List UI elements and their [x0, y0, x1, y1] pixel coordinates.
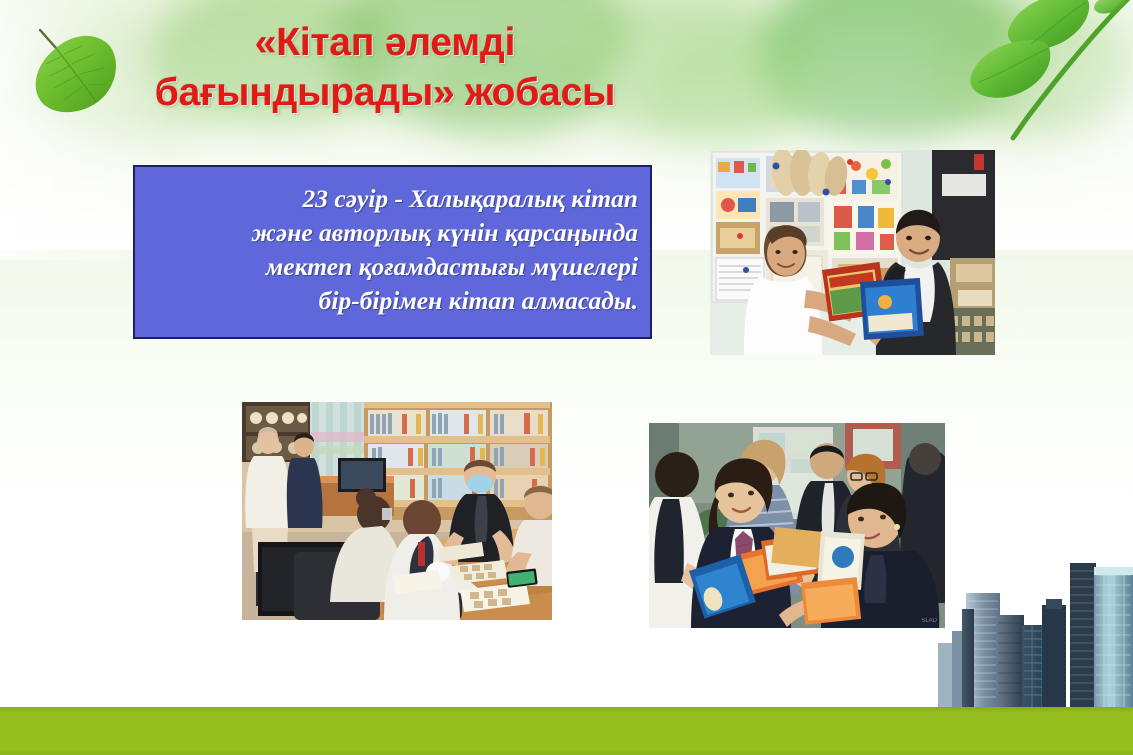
photo-watermark: SLAD: [921, 618, 937, 624]
city-skyline-icon: [938, 527, 1133, 707]
presentation-slide: «Кітап әлемді бағындырады» жобасы 23 сәу…: [0, 0, 1133, 755]
photo-library-reading-room: [242, 402, 552, 620]
quote-box: 23 сәуір - Халықаралық кітап және авторл…: [133, 165, 652, 339]
leaf-branch-icon: [949, 0, 1133, 155]
bottom-accent-bar: [0, 707, 1133, 755]
quote-text: 23 сәуір - Халықаралық кітап және авторл…: [252, 182, 638, 318]
photo-children-exchanging-books: [710, 150, 995, 355]
page-title: «Кітап әлемді бағындырады» жобасы: [0, 18, 770, 118]
photo-students-teachers-book-exchange: SLAD: [649, 423, 945, 628]
